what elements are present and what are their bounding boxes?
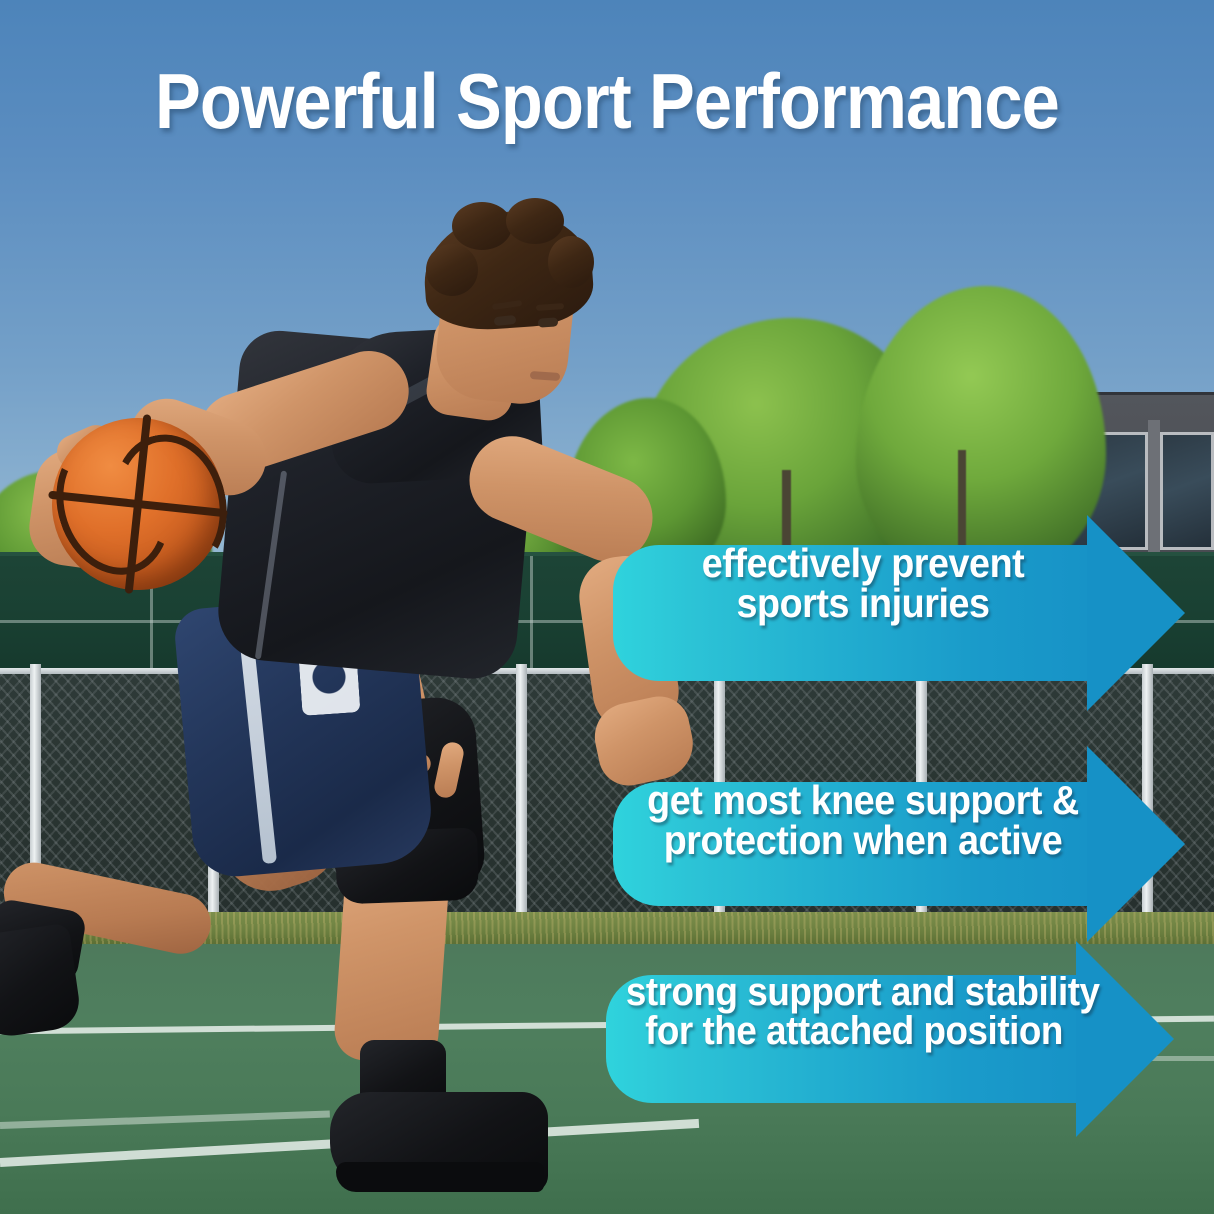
callout-arrow-1-head <box>1087 515 1185 711</box>
hair-curl <box>548 236 594 288</box>
callout-arrow-3-line1: strong support and stability <box>626 973 1082 1012</box>
callout-arrow-3-body: strong support and stability for the att… <box>606 975 1102 1103</box>
page-title: Powerful Sport Performance <box>73 62 1141 140</box>
product-marketing-image: effectively prevent sports injuries get … <box>0 0 1214 1214</box>
callout-arrow-3[interactable]: strong support and stability for the att… <box>606 975 1178 1103</box>
fence-seam <box>530 556 533 672</box>
callout-arrow-3-line2: for the attached position <box>626 1012 1082 1051</box>
shoe-sole <box>336 1162 544 1192</box>
callout-arrow-2[interactable]: get most knee support & protection when … <box>613 782 1182 906</box>
hair-curl <box>506 198 564 244</box>
callout-arrow-2-line2: protection when active <box>633 820 1093 860</box>
callout-arrow-1-line1: effectively prevent <box>633 543 1093 583</box>
fence-post <box>516 664 527 932</box>
hair-curl <box>426 244 478 296</box>
callout-arrow-3-text: strong support and stability for the att… <box>626 973 1082 1051</box>
hair-curl <box>452 202 512 250</box>
callout-arrow-1[interactable]: effectively prevent sports injuries <box>613 545 1182 681</box>
callout-arrow-2-text: get most knee support & protection when … <box>633 780 1093 860</box>
callout-arrow-1-line2: sports injuries <box>633 583 1093 623</box>
player-eye <box>538 317 559 327</box>
callout-arrow-2-head <box>1087 746 1185 942</box>
basketball <box>52 418 224 590</box>
callout-arrow-1-body: effectively prevent sports injuries <box>613 545 1113 681</box>
callout-arrow-1-text: effectively prevent sports injuries <box>633 543 1093 623</box>
callout-arrow-2-body: get most knee support & protection when … <box>613 782 1113 906</box>
callout-arrow-2-line1: get most knee support & <box>633 780 1093 820</box>
